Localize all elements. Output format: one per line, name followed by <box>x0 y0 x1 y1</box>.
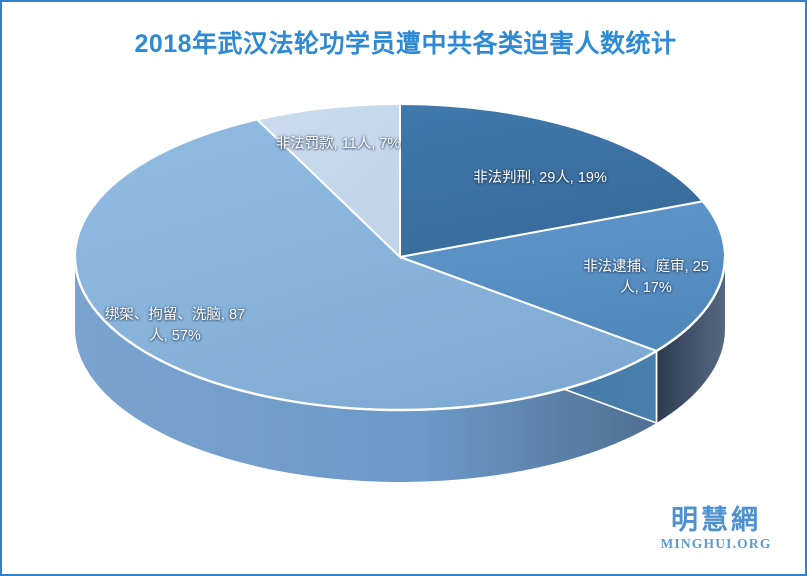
minghui-logo: 明慧網 MINGHUI.ORG <box>653 506 779 552</box>
pie-chart-svg <box>2 2 807 576</box>
chart-page: 2018年武汉法轮功学员遭中共各类迫害人数统计 <box>0 0 807 576</box>
logo-chinese-text: 明慧網 <box>653 506 779 536</box>
pie-chart: 非法罚款, 11人, 7% 非法判刑, 29人, 19% 非法逮捕、庭审, 25… <box>2 2 807 576</box>
logo-latin-text: MINGHUI.ORG <box>653 536 779 552</box>
